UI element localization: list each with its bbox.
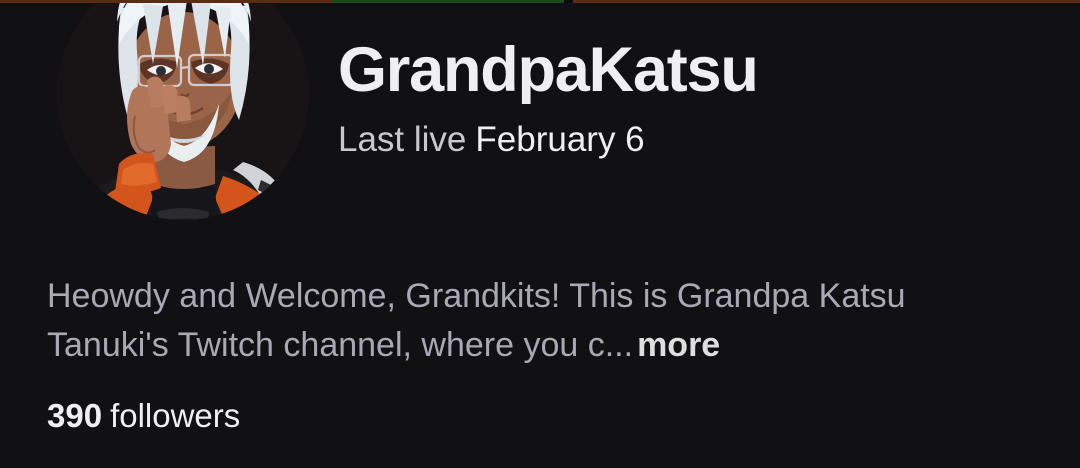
- channel-identity: GrandpaKatsu Last liveFebruary 6: [338, 36, 758, 159]
- bio-text: Heowdy and Welcome, Grandkits! This is G…: [47, 277, 906, 364]
- follower-count-value: 390: [47, 397, 102, 434]
- last-live-date: February 6: [475, 120, 644, 159]
- last-live-label: Last live: [338, 120, 466, 159]
- accent-segment-orange-right: [573, 0, 1080, 3]
- top-accent-rule: [0, 0, 1080, 3]
- accent-segment-green: [332, 0, 564, 3]
- follower-count: 390followers: [47, 398, 240, 434]
- accent-segment-orange-left: [0, 0, 332, 3]
- page-title: GrandpaKatsu: [338, 36, 758, 104]
- channel-bio: Heowdy and Welcome, Grandkits! This is G…: [47, 272, 1007, 370]
- accent-segment-gap: [564, 0, 573, 3]
- last-live-status: Last liveFebruary 6: [338, 120, 758, 159]
- bio-more-button[interactable]: more: [637, 326, 720, 364]
- follower-count-label: followers: [110, 397, 240, 434]
- channel-profile-header: GrandpaKatsu Last liveFebruary 6 Heowdy …: [0, 0, 1080, 468]
- avatar[interactable]: [57, 0, 309, 240]
